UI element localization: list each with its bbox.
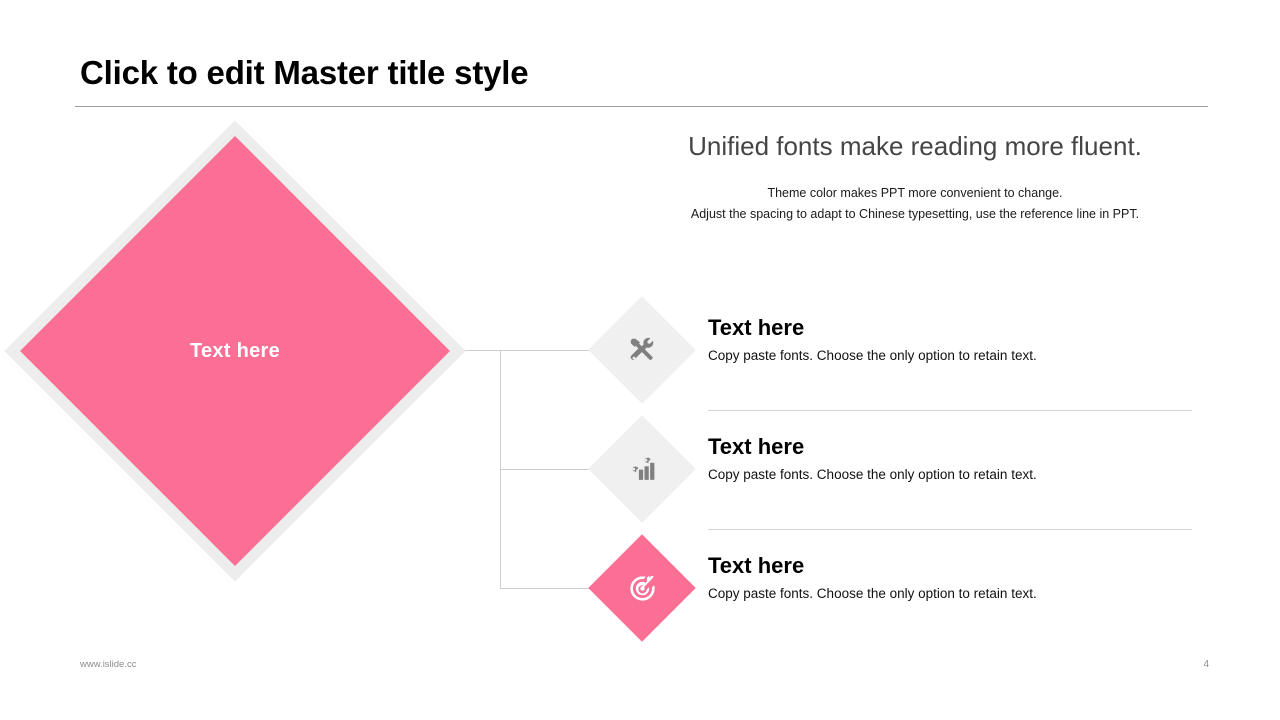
page-title[interactable]: Click to edit Master title style	[80, 54, 528, 92]
row-text-1: Text here Copy paste fonts. Choose the o…	[708, 315, 1192, 364]
subtitle-headline[interactable]: Unified fonts make reading more fluent.	[620, 130, 1210, 163]
footer-url[interactable]: www.islide.cc	[80, 659, 137, 670]
list-item[interactable]: Text here Copy paste fonts. Choose the o…	[604, 291, 1192, 410]
tools-icon	[604, 312, 680, 388]
list-item[interactable]: Text here Copy paste fonts. Choose the o…	[604, 410, 1192, 529]
subtitle-line-1[interactable]: Theme color makes PPT more convenient to…	[620, 183, 1210, 205]
row-body[interactable]: Copy paste fonts. Choose the only option…	[708, 348, 1192, 364]
bar-chart-gear-icon	[604, 431, 680, 507]
row-body[interactable]: Copy paste fonts. Choose the only option…	[708, 586, 1192, 602]
subtitle-lines: Theme color makes PPT more convenient to…	[620, 183, 1210, 227]
row-divider-1	[708, 410, 1192, 411]
row-heading[interactable]: Text here	[708, 315, 1192, 340]
row-heading[interactable]: Text here	[708, 553, 1192, 578]
hero-diamond[interactable]: Text here	[72, 188, 398, 514]
page-number: 4	[1185, 659, 1209, 670]
icon-diamond-1[interactable]	[604, 312, 680, 388]
row-divider-2	[708, 529, 1192, 530]
icon-diamond-2[interactable]	[604, 431, 680, 507]
row-body[interactable]: Copy paste fonts. Choose the only option…	[708, 467, 1192, 483]
hero-diamond-label[interactable]: Text here	[72, 188, 398, 514]
target-arrow-icon	[604, 550, 680, 626]
title-underline-rule	[75, 106, 1208, 107]
row-heading[interactable]: Text here	[708, 434, 1192, 459]
subtitle-line-2[interactable]: Adjust the spacing to adapt to Chinese t…	[620, 204, 1210, 226]
row-text-3: Text here Copy paste fonts. Choose the o…	[708, 553, 1192, 602]
row-text-2: Text here Copy paste fonts. Choose the o…	[708, 434, 1192, 483]
subtitle-block: Unified fonts make reading more fluent. …	[620, 130, 1210, 226]
icon-diamond-3[interactable]	[604, 550, 680, 626]
list-item[interactable]: Text here Copy paste fonts. Choose the o…	[604, 529, 1192, 648]
